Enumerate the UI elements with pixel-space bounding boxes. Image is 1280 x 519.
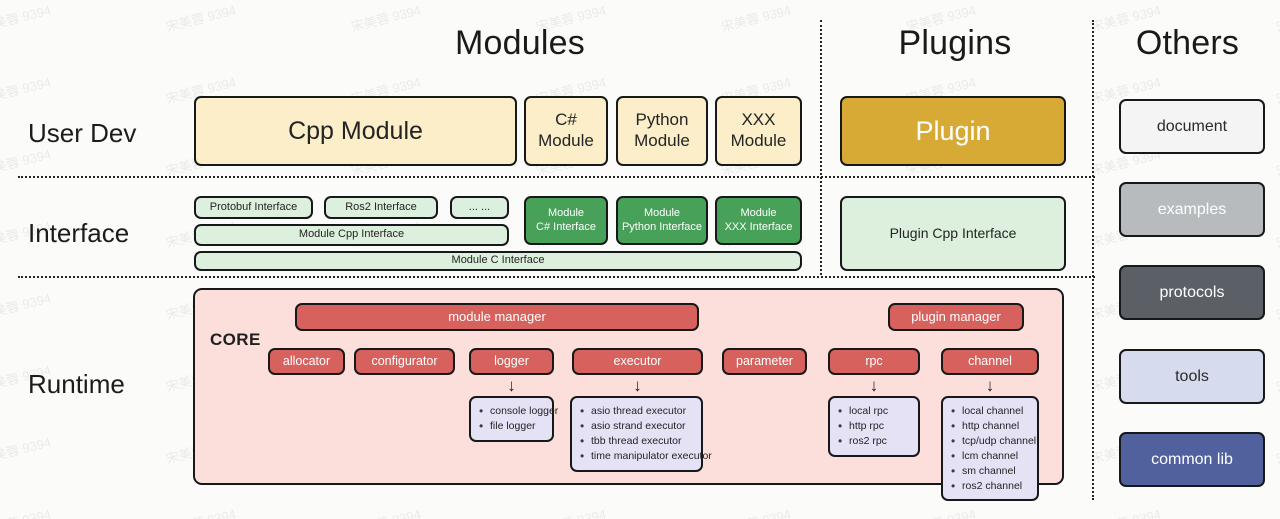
interface-protobuf[interactable]: Protobuf Interface: [194, 196, 313, 219]
module-manager-box[interactable]: module manager: [295, 303, 699, 331]
others-tools[interactable]: tools: [1119, 349, 1265, 404]
row-label-runtime: Runtime: [28, 369, 125, 400]
watermark-text: 宋美蓉 9394: [0, 432, 53, 468]
list-item: file logger: [477, 419, 544, 434]
watermark-text: 宋美蓉 9394: [1089, 504, 1163, 519]
arrow-rpc-down: ↓: [828, 377, 920, 394]
watermark-text: 宋美蓉 9394: [164, 0, 238, 35]
watermark-text: 宋美蓉 9394: [0, 0, 53, 35]
watermark-text: 宋美蓉 9394: [904, 504, 978, 519]
list-item: console logger: [477, 404, 544, 419]
list-item: tbb thread executor: [578, 434, 693, 449]
logger-impl-items: console loggerfile logger: [477, 404, 544, 434]
core-component-logger[interactable]: logger: [469, 348, 554, 375]
module-python-module[interactable]: Python Module: [616, 96, 708, 166]
watermark-text: 宋美蓉 9394: [0, 72, 53, 108]
list-item: local channel: [949, 404, 1029, 419]
list-item: ros2 rpc: [836, 434, 910, 449]
watermark-text: 宋美蓉 9394: [1274, 144, 1280, 180]
arrow-channel-down: ↓: [941, 377, 1039, 394]
plugin-manager-box[interactable]: plugin manager: [888, 303, 1024, 331]
divider-plugins-others: [1092, 20, 1094, 500]
core-component-channel[interactable]: channel: [941, 348, 1039, 375]
rpc-impl-list: local rpchttp rpcros2 rpc: [828, 396, 920, 457]
watermark-text: 宋美蓉 9394: [0, 288, 53, 324]
arrow-logger-down: ↓: [469, 377, 554, 394]
watermark-text: 宋美蓉 9394: [719, 0, 793, 35]
row-label-user-dev: User Dev: [28, 118, 136, 149]
divider-interface-runtime: [18, 276, 1095, 278]
watermark-text: 宋美蓉 9394: [1274, 72, 1280, 108]
core-component-configurator[interactable]: configurator: [354, 348, 455, 375]
core-component-rpc[interactable]: rpc: [828, 348, 920, 375]
module-cpp-module[interactable]: Cpp Module: [194, 96, 517, 166]
interface-etc[interactable]: ... ...: [450, 196, 509, 219]
interface-ros2[interactable]: Ros2 Interface: [324, 196, 438, 219]
watermark-text: 宋美蓉 9394: [1274, 216, 1280, 252]
column-title-others: Others: [1100, 24, 1275, 63]
list-item: sm channel: [949, 464, 1029, 479]
watermark-text: 宋美蓉 9394: [719, 504, 793, 519]
interface-module-python[interactable]: Module Python Interface: [616, 196, 708, 245]
channel-impl-items: local channelhttp channeltcp/udp channel…: [949, 404, 1029, 493]
divider-modules-plugins: [820, 20, 822, 275]
diagram-canvas: 宋美蓉 9394宋美蓉 9394宋美蓉 9394宋美蓉 9394宋美蓉 9394…: [0, 0, 1280, 519]
core-component-executor[interactable]: executor: [572, 348, 703, 375]
list-item: time manipulator executor: [578, 449, 693, 464]
interface-module-csharp[interactable]: Module C# Interface: [524, 196, 608, 245]
executor-impl-list: asio thread executorasio strand executor…: [570, 396, 703, 472]
watermark-text: 宋美蓉 9394: [1274, 504, 1280, 519]
column-title-modules: Modules: [330, 24, 710, 63]
rpc-impl-items: local rpchttp rpcros2 rpc: [836, 404, 910, 449]
channel-impl-list: local channelhttp channeltcp/udp channel…: [941, 396, 1039, 501]
core-component-allocator[interactable]: allocator: [268, 348, 345, 375]
interface-module-c[interactable]: Module C Interface: [194, 251, 802, 271]
watermark-text: 宋美蓉 9394: [534, 504, 608, 519]
others-protocols[interactable]: protocols: [1119, 265, 1265, 320]
plugin-box[interactable]: Plugin: [840, 96, 1066, 166]
watermark-text: 宋美蓉 9394: [0, 504, 53, 519]
logger-impl-list: console loggerfile logger: [469, 396, 554, 442]
watermark-text: 宋美蓉 9394: [1274, 360, 1280, 396]
row-label-interface: Interface: [28, 218, 129, 249]
core-label: CORE: [210, 330, 261, 350]
watermark-text: 宋美蓉 9394: [1274, 432, 1280, 468]
list-item: lcm channel: [949, 449, 1029, 464]
executor-impl-items: asio thread executorasio strand executor…: [578, 404, 693, 464]
list-item: http channel: [949, 419, 1029, 434]
column-title-plugins: Plugins: [840, 24, 1070, 63]
list-item: tcp/udp channel: [949, 434, 1029, 449]
list-item: asio thread executor: [578, 404, 693, 419]
list-item: http rpc: [836, 419, 910, 434]
list-item: ros2 channel: [949, 479, 1029, 494]
module-xxx-module[interactable]: XXX Module: [715, 96, 802, 166]
others-examples[interactable]: examples: [1119, 182, 1265, 237]
core-component-parameter[interactable]: parameter: [722, 348, 807, 375]
interface-plugin-cpp[interactable]: Plugin Cpp Interface: [840, 196, 1066, 271]
watermark-text: 宋美蓉 9394: [164, 504, 238, 519]
others-document[interactable]: document: [1119, 99, 1265, 154]
list-item: local rpc: [836, 404, 910, 419]
watermark-text: 宋美蓉 9394: [1274, 288, 1280, 324]
interface-module-xxx[interactable]: Module XXX Interface: [715, 196, 802, 245]
divider-userdev-interface: [18, 176, 1095, 178]
others-common-lib[interactable]: common lib: [1119, 432, 1265, 487]
interface-module-cpp[interactable]: Module Cpp Interface: [194, 224, 509, 246]
watermark-text: 宋美蓉 9394: [349, 504, 423, 519]
arrow-executor-down: ↓: [572, 377, 703, 394]
list-item: asio strand executor: [578, 419, 693, 434]
module-csharp-module[interactable]: C# Module: [524, 96, 608, 166]
